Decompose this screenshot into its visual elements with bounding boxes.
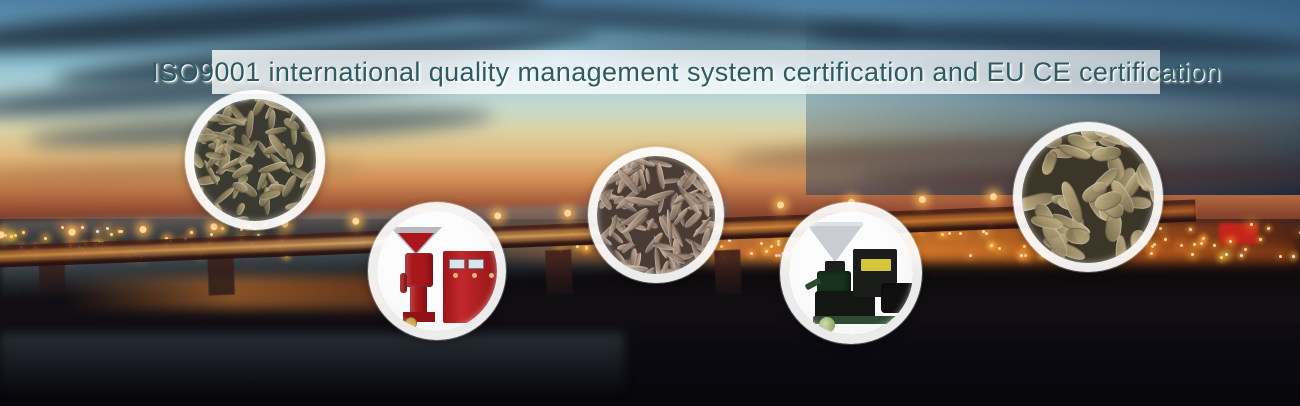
bridge-pier: [545, 249, 573, 295]
wood-pellet: [259, 189, 282, 202]
wood-pellets-large-content: [1022, 131, 1154, 263]
wood-pellet: [597, 243, 599, 259]
cabinet-meter: [449, 259, 465, 269]
city-light: [775, 254, 778, 257]
city-light: [1202, 237, 1205, 240]
city-light: [61, 226, 64, 229]
city-light: [720, 245, 723, 248]
wood-pellet: [645, 167, 652, 183]
red-pellet-mill-machine[interactable]: [368, 202, 506, 340]
city-light: [1200, 242, 1203, 245]
machine-caster: [405, 317, 417, 329]
wood-pellet: [1149, 218, 1154, 251]
city-light: [982, 230, 985, 233]
red-pellet-mill-machine-content: [377, 211, 497, 331]
cabinet-knob: [489, 273, 494, 278]
wood-pellet: [194, 187, 205, 204]
machine-pellet-head: [405, 253, 433, 287]
cabinet-meter: [468, 259, 484, 269]
pellet-field: [194, 99, 316, 221]
machine-wheel: [889, 317, 905, 333]
wood-pellet: [1129, 229, 1150, 258]
city-light: [770, 245, 773, 248]
wood-pellet: [287, 99, 308, 125]
city-light: [1220, 256, 1223, 259]
wood-pellet: [234, 201, 246, 216]
city-light: [190, 231, 193, 234]
machine-hopper-inner: [398, 233, 434, 253]
river-water-lower: [0, 333, 624, 390]
wood-pellet: [194, 202, 204, 209]
pellet-field: [1022, 131, 1154, 263]
headline-text: ISO9001 international quality management…: [151, 57, 1221, 88]
wood-pellets-light[interactable]: [185, 90, 325, 230]
wood-pellets-light-content: [194, 99, 316, 221]
city-light: [969, 254, 972, 257]
wood-pellet: [268, 109, 277, 129]
pellet-die-head: [817, 271, 851, 293]
wood-pellet: [293, 151, 304, 169]
bridge-pier: [714, 249, 742, 295]
city-light: [1240, 254, 1243, 257]
city-light: [1159, 227, 1162, 230]
wood-pellet: [618, 266, 648, 273]
city-light: [1191, 253, 1194, 256]
city-light: [1259, 238, 1262, 241]
city-light: [1213, 244, 1216, 247]
wood-pellet: [1148, 251, 1154, 263]
cabinet-knob: [453, 273, 458, 278]
city-light: [778, 254, 781, 257]
wood-pellets-large[interactable]: [1013, 122, 1163, 272]
city-light: [959, 232, 962, 235]
headline-strip: ISO9001 international quality management…: [212, 50, 1160, 94]
city-light: [22, 231, 25, 234]
wood-pellets-long[interactable]: [588, 147, 724, 283]
black-pellet-mill-machine-content: [789, 211, 913, 335]
machine-side-arm: [400, 273, 407, 293]
wood-pellet: [199, 220, 210, 221]
pellet-field: [597, 156, 715, 274]
promo-banner: ISO9001 international quality management…: [0, 0, 1300, 406]
wood-pellet: [713, 157, 715, 184]
black-pellet-mill-machine[interactable]: [780, 202, 922, 344]
wood-pellet: [290, 216, 309, 221]
wood-pellet: [229, 214, 249, 221]
city-light: [210, 233, 213, 236]
wood-pellet: [1065, 227, 1091, 246]
motor-fan-cover: [909, 287, 913, 309]
machine-wheel: [819, 317, 835, 333]
city-light: [1164, 238, 1167, 241]
red-building-sign: [1219, 223, 1258, 243]
wood-pellets-long-content: [597, 156, 715, 274]
wood-pellet: [1143, 143, 1154, 161]
cabinet-knob: [472, 273, 477, 278]
wood-pellet: [701, 156, 709, 167]
machine-nameplate: [861, 259, 891, 271]
wood-pellet: [600, 236, 613, 247]
